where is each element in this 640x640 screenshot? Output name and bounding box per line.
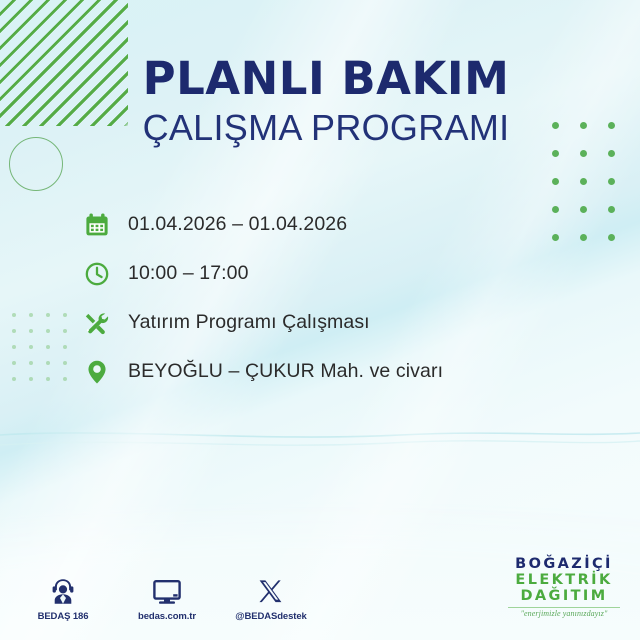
dot <box>12 361 16 365</box>
dot <box>12 345 16 349</box>
planned-maintenance-poster: PLANLI BAKIM ÇALIŞMA PROGRAMI <box>0 0 640 640</box>
location-pin-icon <box>84 359 128 385</box>
maintenance-details-list: 01.04.2026 – 01.04.2026 10:00 – 17:00 <box>84 200 604 396</box>
detail-text-location: BEYOĞLU – ÇUKUR Mah. ve civarı <box>128 360 443 383</box>
dot <box>63 313 67 317</box>
contact-label-call-center: BEDAŞ 186 <box>24 611 102 622</box>
contact-label-website: bedas.com.tr <box>128 611 206 622</box>
contact-x-account[interactable]: @BEDASdestek <box>232 572 310 622</box>
contact-label-x-account: @BEDASdestek <box>232 611 310 622</box>
poster-footer: BEDAŞ 186 bedas.com.tr <box>0 545 640 640</box>
monitor-icon <box>128 572 206 606</box>
detail-text-date: 01.04.2026 – 01.04.2026 <box>128 213 347 236</box>
page-subtitle: ÇALIŞMA PROGRAMI <box>0 105 640 152</box>
dot <box>29 345 33 349</box>
dot <box>608 234 615 241</box>
dot <box>46 329 50 333</box>
bedas-brand-logo: BOĞAZİÇİ ELEKTRİK DAĞITIM "enerjimizle y… <box>500 556 628 618</box>
dot <box>552 178 559 185</box>
dot <box>580 178 587 185</box>
detail-text-time: 10:00 – 17:00 <box>128 262 249 285</box>
dot-grid-left-decoration <box>12 313 80 393</box>
dot <box>12 313 16 317</box>
brand-tagline: "enerjimizle yanınızdayız" <box>500 609 628 618</box>
dot <box>46 313 50 317</box>
detail-row-worktype: Yatırım Programı Çalışması <box>84 298 604 347</box>
detail-row-time: 10:00 – 17:00 <box>84 249 604 298</box>
contact-channels: BEDAŞ 186 bedas.com.tr <box>24 572 310 622</box>
detail-row-date: 01.04.2026 – 01.04.2026 <box>84 200 604 249</box>
dot <box>608 206 615 213</box>
dot <box>63 377 67 381</box>
contact-website[interactable]: bedas.com.tr <box>128 572 206 622</box>
contact-call-center[interactable]: BEDAŞ 186 <box>24 572 102 622</box>
clock-icon <box>84 261 128 287</box>
dot <box>608 178 615 185</box>
calendar-icon <box>84 212 128 238</box>
detail-row-location: BEYOĞLU – ÇUKUR Mah. ve civarı <box>84 347 604 396</box>
tools-icon <box>84 310 128 336</box>
brand-line-1: BOĞAZİÇİ <box>500 556 628 572</box>
dot <box>63 345 67 349</box>
brand-divider <box>508 607 620 609</box>
dot <box>46 345 50 349</box>
dot <box>29 361 33 365</box>
page-title: PLANLI BAKIM <box>0 56 640 101</box>
dot <box>12 329 16 333</box>
dot <box>29 329 33 333</box>
dot <box>46 377 50 381</box>
poster-title-block: PLANLI BAKIM ÇALIŞMA PROGRAMI <box>0 56 640 152</box>
brand-line-3: DAĞITIM <box>500 588 628 604</box>
dot <box>29 313 33 317</box>
dot <box>63 329 67 333</box>
x-twitter-icon <box>232 572 310 606</box>
dot <box>12 377 16 381</box>
headset-support-icon <box>24 572 102 606</box>
dot <box>63 361 67 365</box>
brand-line-2: ELEKTRİK <box>500 572 628 588</box>
dot <box>29 377 33 381</box>
dot <box>46 361 50 365</box>
detail-text-worktype: Yatırım Programı Çalışması <box>128 311 370 334</box>
